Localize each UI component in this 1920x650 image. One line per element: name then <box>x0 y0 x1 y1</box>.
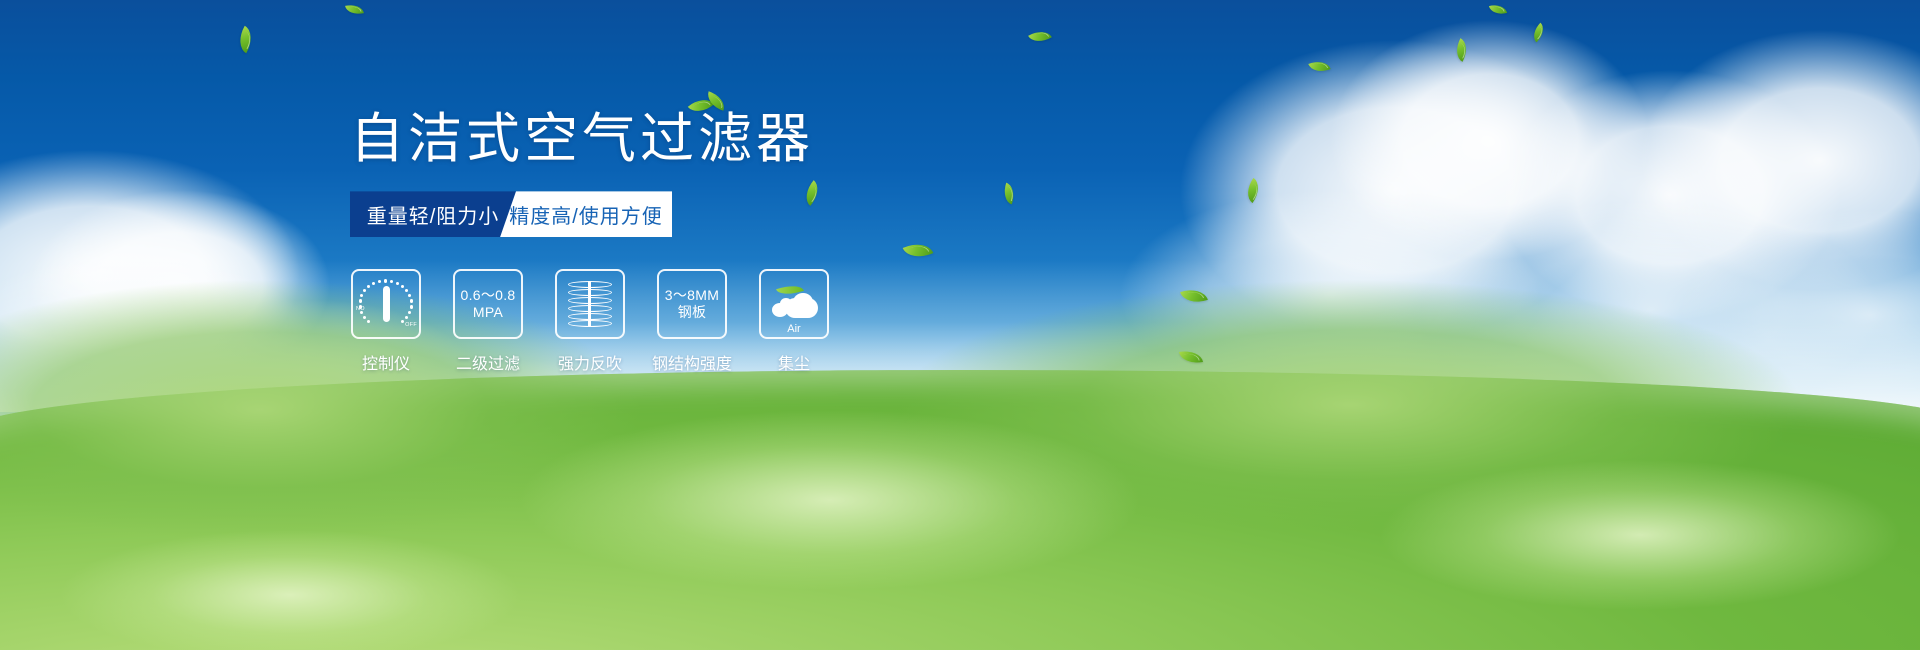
leaf-decoration <box>1308 57 1330 76</box>
leaf-decoration <box>1028 26 1052 47</box>
cloud-decoration <box>1500 70 1840 320</box>
feature-icon-row: NO OFF 控制仪 0.6～0.8 MPA 二级过滤 <box>350 269 1050 374</box>
leaf-decoration <box>1241 178 1265 203</box>
feature-backblow-box <box>555 269 625 339</box>
grass-highlight <box>520 410 1140 590</box>
hero-banner: 自洁式空气过滤器 重量轻/阻力小 精度高/使用方便 <box>0 0 1920 650</box>
coil-icon <box>568 281 612 327</box>
feature-backblow-caption: 强力反吹 <box>558 350 622 374</box>
title-leaf-icon <box>680 92 740 128</box>
feature-steel-caption: 钢结构强度 <box>652 350 732 374</box>
steel-thickness: 3～8MM <box>665 287 719 305</box>
steel-material: 钢板 <box>678 304 707 322</box>
leaf-decoration <box>1489 2 1507 17</box>
feature-filter-caption: 二级过滤 <box>456 350 520 374</box>
gauge-icon: NO OFF <box>359 279 413 329</box>
feature-dust-box: Air <box>759 269 829 339</box>
tag-strip: 重量轻/阻力小 精度高/使用方便 <box>350 191 672 237</box>
gauge-label-no: NO <box>356 306 365 313</box>
leaf-decoration <box>233 26 257 53</box>
leaf-decoration <box>345 2 364 16</box>
feature-back-blow[interactable]: 强力反吹 <box>554 269 626 374</box>
pressure-unit: MPA <box>473 304 503 322</box>
cloud-decoration <box>1640 30 1920 290</box>
grass-highlight <box>1380 460 1900 610</box>
banner-content: 自洁式空气过滤器 重量轻/阻力小 精度高/使用方便 <box>350 110 1050 374</box>
feature-dust-collection[interactable]: Air 集尘 <box>758 269 830 374</box>
dust-cloud-icon: Air <box>770 287 818 321</box>
cloud-decoration <box>1330 20 1650 260</box>
feature-controller[interactable]: NO OFF 控制仪 <box>350 269 422 374</box>
feature-two-stage-filter[interactable]: 0.6～0.8 MPA 二级过滤 <box>452 269 524 374</box>
pressure-value: 0.6～0.8 <box>460 287 515 305</box>
feature-pressure-box: 0.6～0.8 MPA <box>453 269 523 339</box>
feature-steel-box: 3～8MM 钢板 <box>657 269 727 339</box>
feature-controller-caption: 控制仪 <box>362 350 410 374</box>
feature-dust-caption: 集尘 <box>778 350 810 374</box>
tag-precision-ease[interactable]: 精度高/使用方便 <box>500 191 672 237</box>
leaf-decoration <box>1529 23 1549 43</box>
feature-steel-strength[interactable]: 3～8MM 钢板 钢结构强度 <box>656 269 728 374</box>
tag-weight-resistance[interactable]: 重量轻/阻力小 <box>350 191 516 237</box>
feature-controller-box: NO OFF <box>351 269 421 339</box>
dust-air-label: Air <box>770 323 818 337</box>
gauge-label-off: OFF <box>405 322 417 329</box>
leaf-decoration <box>1451 38 1472 62</box>
grass-highlight <box>60 530 520 650</box>
